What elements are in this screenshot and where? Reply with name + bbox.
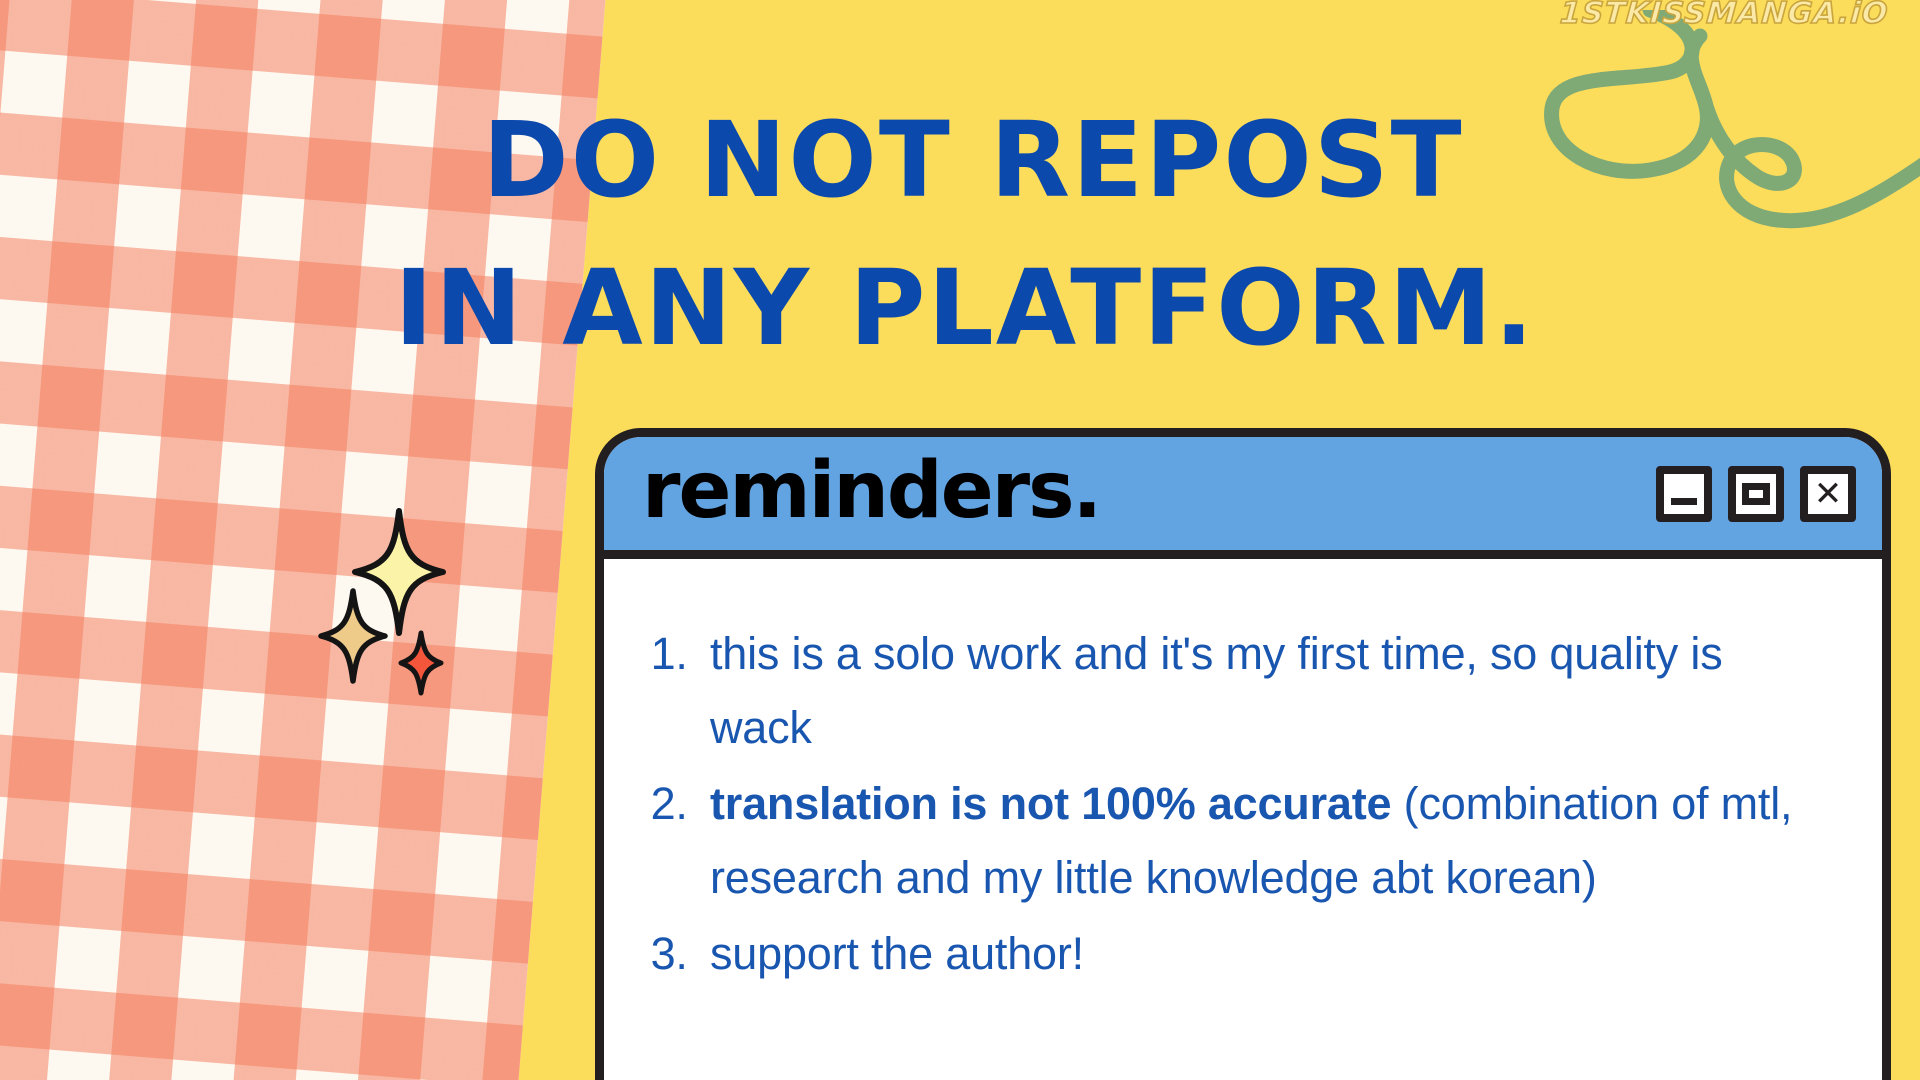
reminder-item: this is a solo work and it's my first ti… <box>700 617 1824 765</box>
headline-line-2: IN ANY PLATFORM. <box>0 234 1920 382</box>
poster-canvas: 1STKISSMANGA.iO DO NOT REPOST IN ANY PLA… <box>0 0 1920 1080</box>
headline-line-1: DO NOT REPOST <box>0 86 1920 234</box>
window-body: this is a solo work and it's my first ti… <box>604 559 1882 991</box>
reminder-emphasis: translation is not 100% accurate <box>710 778 1391 829</box>
reminder-item: support the author! <box>700 917 1824 991</box>
reminders-window: reminders. ✕ this is a solo work and it'… <box>595 428 1891 1080</box>
sparkle-medium-icon <box>318 588 388 684</box>
minimize-button[interactable] <box>1656 466 1712 522</box>
maximize-icon <box>1742 483 1770 505</box>
reminder-item: translation is not 100% accurate (combin… <box>700 767 1824 915</box>
close-icon: ✕ <box>1814 477 1843 511</box>
reminders-list: this is a solo work and it's my first ti… <box>644 617 1824 991</box>
sparkle-small-icon <box>398 630 444 696</box>
page-title: DO NOT REPOST IN ANY PLATFORM. <box>0 86 1920 382</box>
minimize-icon <box>1671 498 1697 505</box>
site-watermark: 1STKISSMANGA.iO <box>1559 0 1890 31</box>
window-titlebar: reminders. ✕ <box>604 437 1882 559</box>
window-title: reminders. <box>642 452 1100 530</box>
close-button[interactable]: ✕ <box>1800 466 1856 522</box>
window-controls: ✕ <box>1656 466 1856 522</box>
maximize-button[interactable] <box>1728 466 1784 522</box>
